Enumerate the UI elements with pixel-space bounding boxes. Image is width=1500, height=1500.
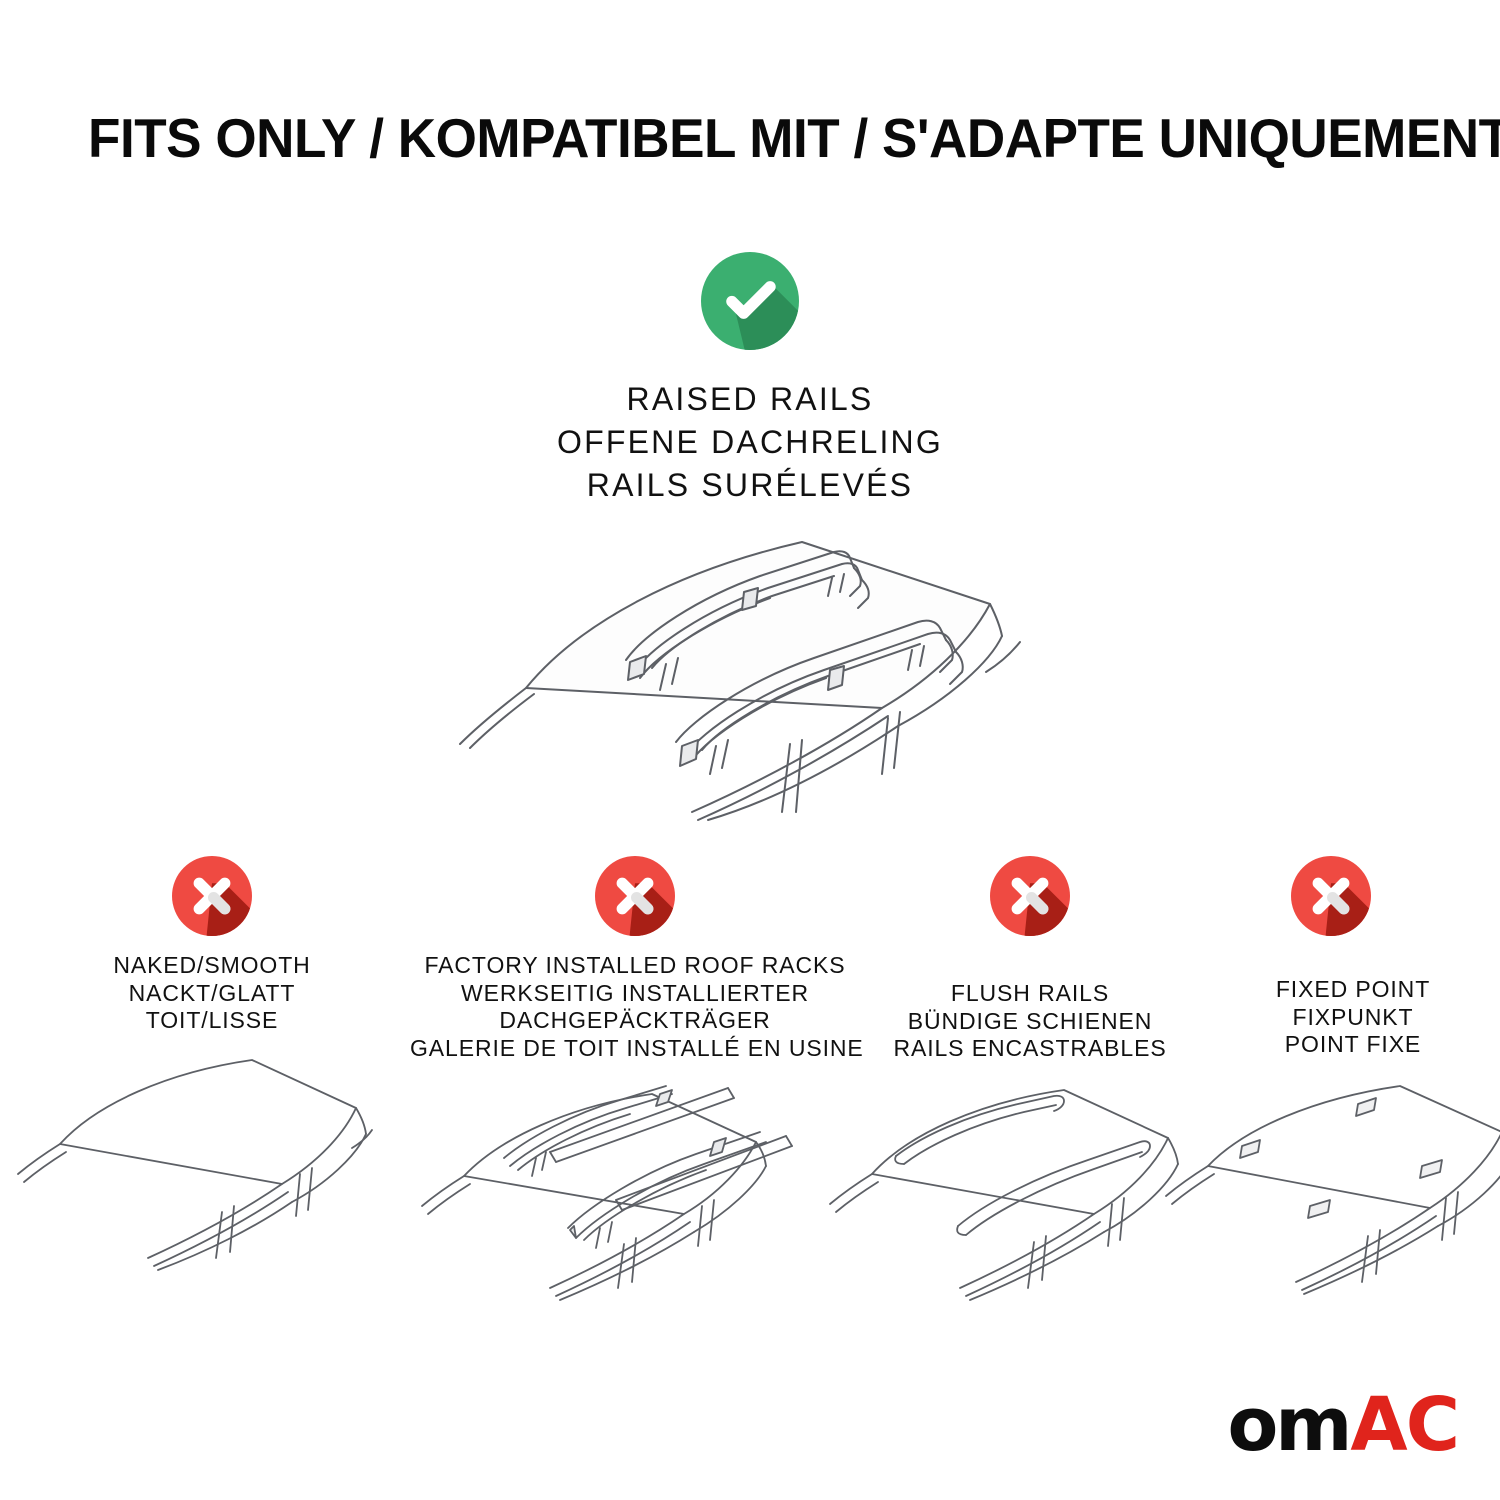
factory-racks-drawing: [400, 1080, 840, 1310]
car-roof-with-factory-crossbars-illustration: [400, 1080, 840, 1315]
caption-line: DACHGEPÄCKTRÄGER: [410, 1007, 860, 1035]
cross-circle-icon: [595, 856, 675, 936]
incompatible-caption-factory-racks: FACTORY INSTALLED ROOF RACKS WERKSEITIG …: [410, 952, 860, 1062]
caption-line: FIXED POINT: [1176, 976, 1500, 1004]
caption-line: FACTORY INSTALLED ROOF RACKS: [410, 952, 860, 980]
fixed-point-drawing: [1150, 1080, 1500, 1310]
caption-line: NACKT/GLATT: [12, 980, 412, 1008]
bare-roof-drawing: [0, 1052, 420, 1282]
omac-logo: om AC: [1227, 1388, 1458, 1462]
incompatible-caption-fixed-point: FIXED POINT FIXPUNKT POINT FIXE: [1176, 976, 1500, 1059]
compatible-caption-line-2: OFFENE DACHRELING: [0, 421, 1500, 464]
compatible-section: RAISED RAILS OFFENE DACHRELING RAILS SUR…: [0, 252, 1500, 507]
cross-circle-icon: [990, 856, 1070, 936]
check-circle-icon-graphic: [701, 252, 799, 350]
caption-line: POINT FIXE: [1176, 1031, 1500, 1059]
incompatible-item-fixed-point: FIXED POINT FIXPUNKT POINT FIXE: [1160, 856, 1500, 1059]
cross-circle-icon: [172, 856, 252, 936]
car-roof-with-fixed-points-illustration: [1150, 1080, 1500, 1315]
logo-text-dark: om: [1227, 1388, 1349, 1462]
compatible-caption-line-3: RAILS SURÉLEVÉS: [0, 464, 1500, 507]
cross-circle-icon-graphic: [595, 856, 675, 936]
caption-line: FIXPUNKT: [1176, 1004, 1500, 1032]
raised-rails-drawing: [430, 512, 1080, 822]
car-roof-bare-illustration: [0, 1052, 420, 1287]
caption-line: WERKSEITIG INSTALLIERTER: [410, 980, 860, 1008]
caption-line: GALERIE DE TOIT INSTALLÉ EN USINE: [410, 1035, 860, 1063]
cross-circle-icon-graphic: [1291, 856, 1371, 936]
incompatible-caption-naked-smooth: NAKED/SMOOTH NACKT/GLATT TOIT/LISSE: [12, 952, 412, 1035]
caption-line: NAKED/SMOOTH: [12, 952, 412, 980]
compatible-caption-line-1: RAISED RAILS: [0, 378, 1500, 421]
car-roof-with-raised-rails-illustration: [430, 512, 1080, 822]
page-title: FITS ONLY / KOMPATIBEL MIT / S'ADAPTE UN…: [88, 108, 1371, 168]
incompatible-item-naked-smooth: NAKED/SMOOTH NACKT/GLATT TOIT/LISSE: [12, 856, 412, 1035]
cross-circle-icon-graphic: [990, 856, 1070, 936]
caption-line: TOIT/LISSE: [12, 1007, 412, 1035]
incompatible-item-factory-racks: FACTORY INSTALLED ROOF RACKS WERKSEITIG …: [410, 856, 860, 1062]
compatible-caption: RAISED RAILS OFFENE DACHRELING RAILS SUR…: [0, 378, 1500, 507]
logo-text-red: AC: [1350, 1388, 1458, 1462]
cross-circle-icon-graphic: [172, 856, 252, 936]
infographic-page: FITS ONLY / KOMPATIBEL MIT / S'ADAPTE UN…: [0, 0, 1500, 1500]
cross-circle-icon: [1291, 856, 1371, 936]
check-circle-icon: [701, 252, 799, 350]
